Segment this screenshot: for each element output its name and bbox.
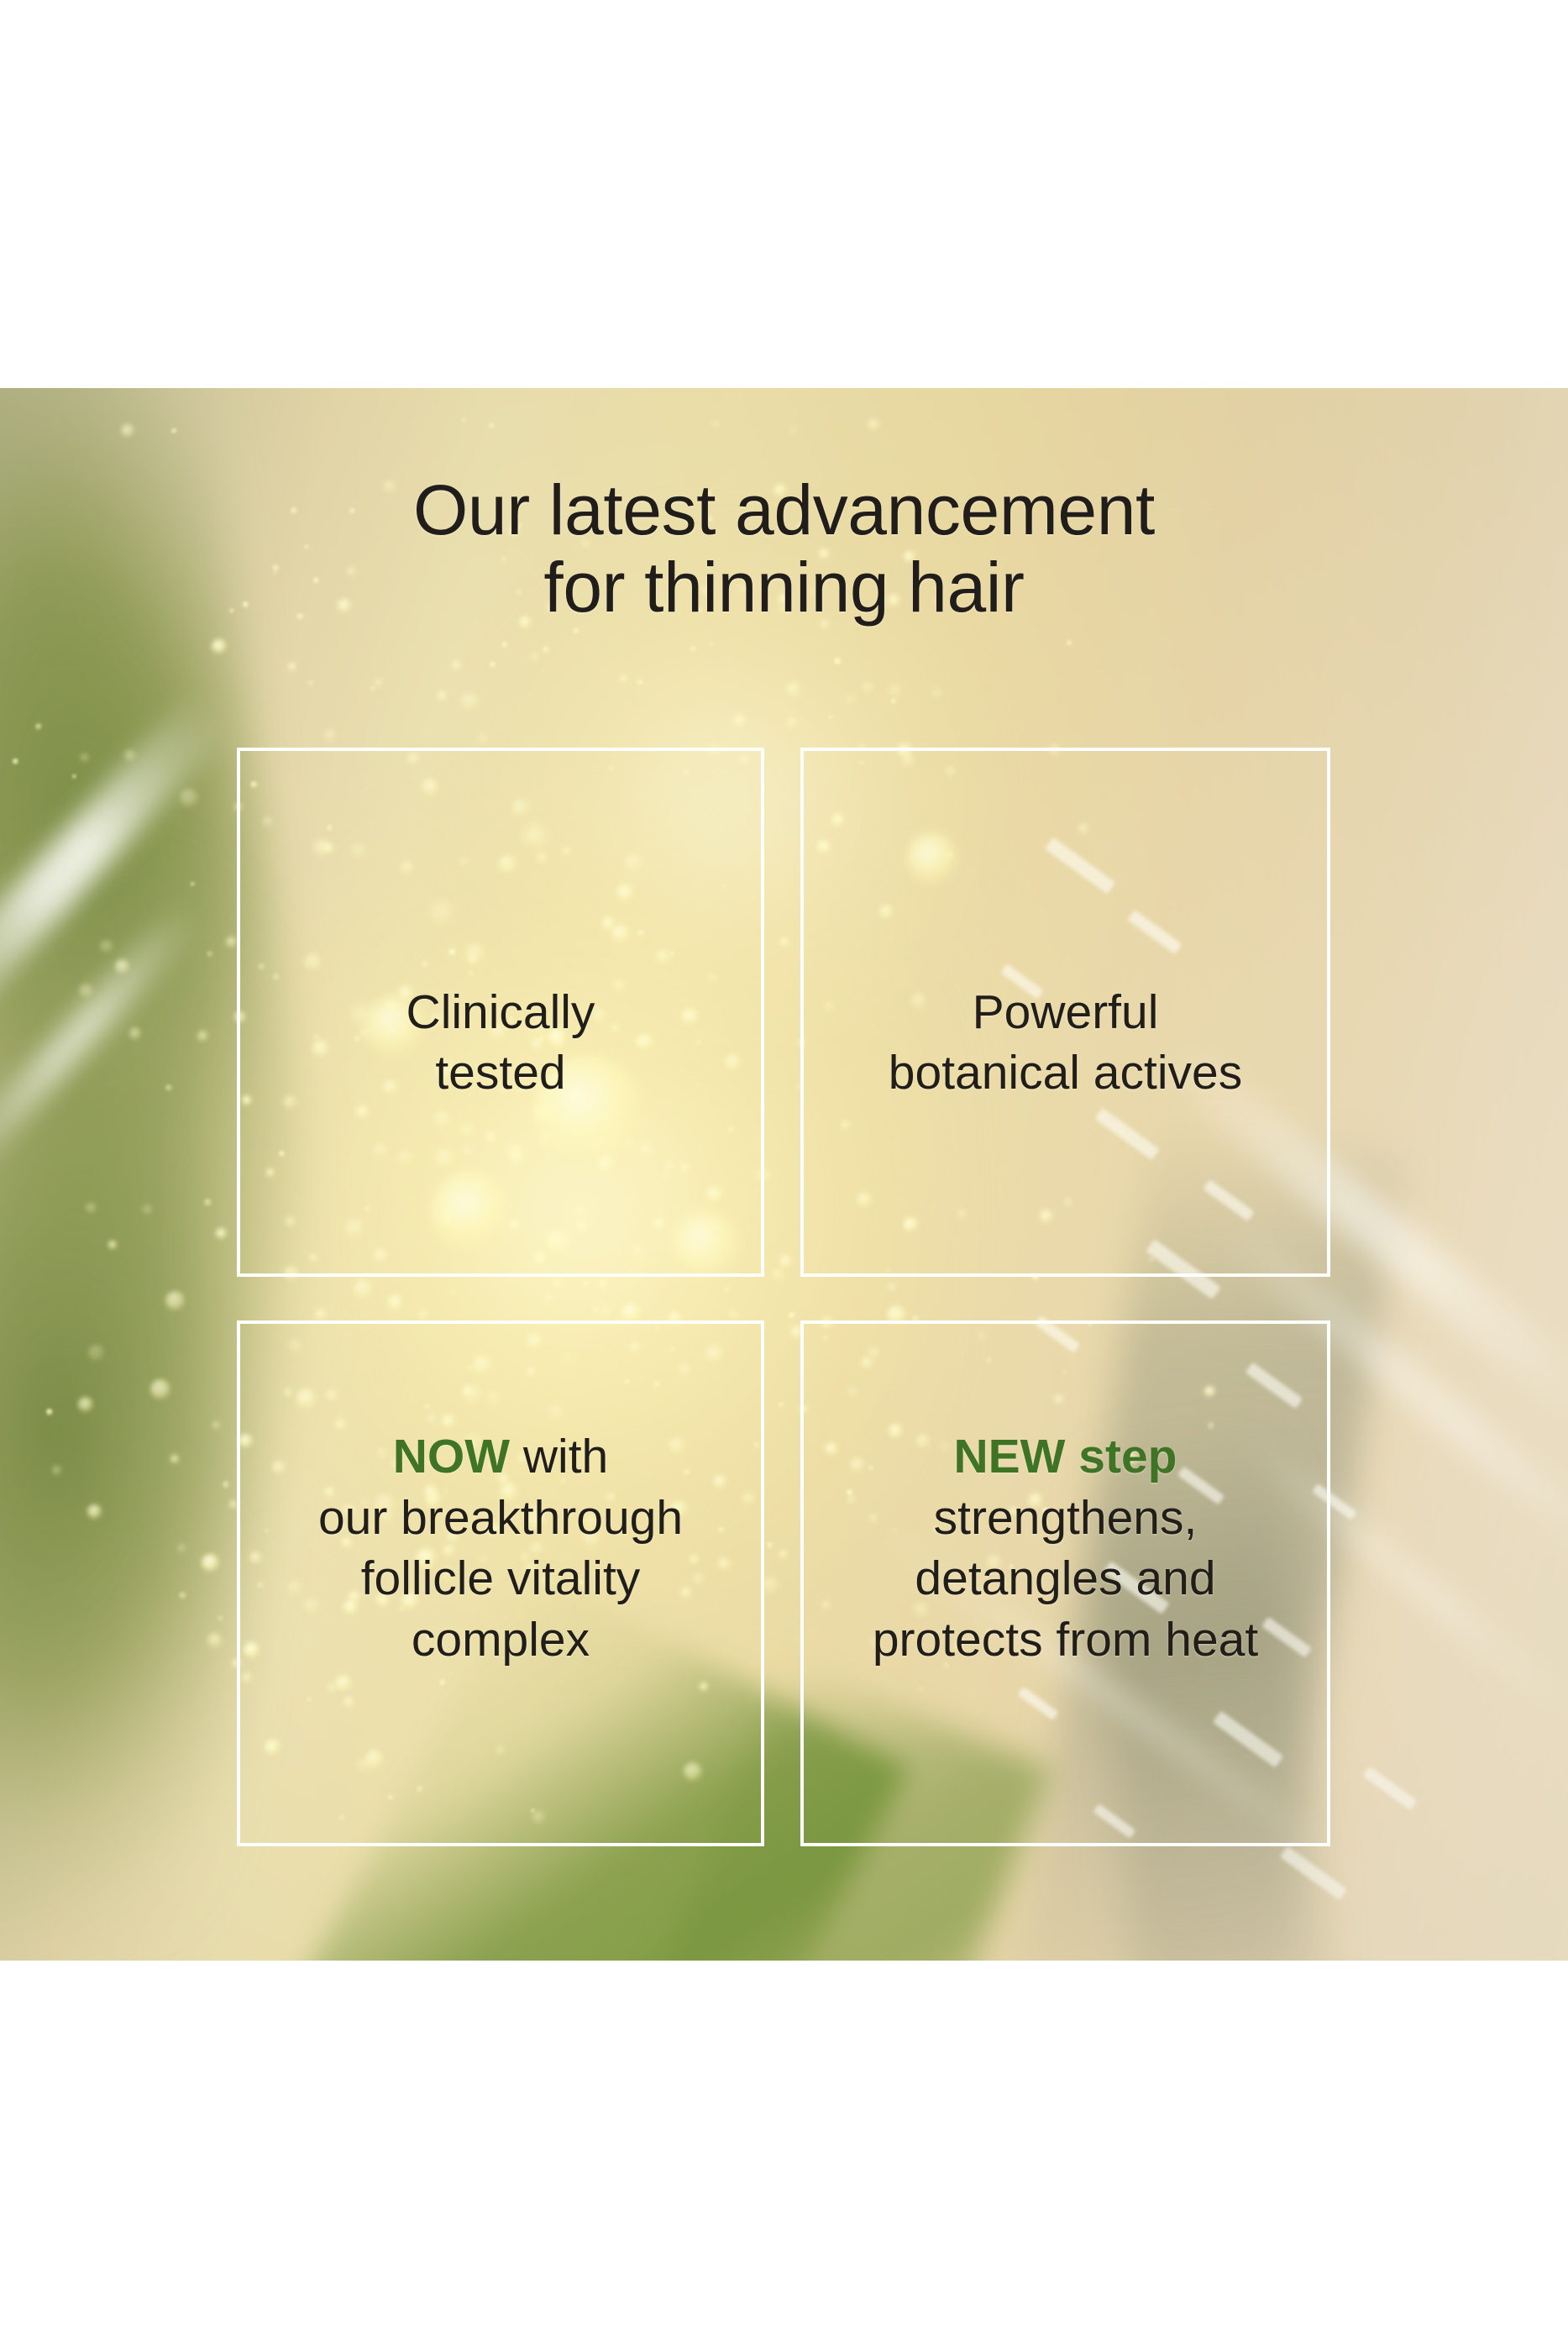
benefit-body-label: Powerful botanical actives	[889, 985, 1242, 1100]
benefit-card-text: NEW step strengthens, detangles and prot…	[861, 1366, 1270, 1670]
benefit-body-label: Clinically tested	[406, 985, 595, 1100]
product-benefit-banner: Our latest advancement for thinning hair…	[0, 388, 1568, 1961]
benefit-card-clinically-tested: Clinically tested	[237, 748, 764, 1277]
benefit-body-label: strengthens, detangles and protects from…	[873, 1491, 1258, 1667]
benefit-accent-label: NOW	[393, 1430, 510, 1483]
benefit-card-follicle-vitality-complex: NOW with our breakthrough follicle vital…	[237, 1320, 764, 1846]
benefit-card-text: Powerful botanical actives	[877, 921, 1254, 1103]
benefit-card-new-step: NEW step strengthens, detangles and prot…	[800, 1320, 1330, 1846]
benefit-grid: Clinically tested Powerful botanical act…	[237, 748, 1330, 1846]
screenshot-canvas: Our latest advancement for thinning hair…	[0, 0, 1568, 2352]
page-title: Our latest advancement for thinning hair	[0, 472, 1568, 626]
benefit-card-text: NOW with our breakthrough follicle vital…	[307, 1366, 695, 1670]
benefit-card-powerful-botanical-actives: Powerful botanical actives	[800, 748, 1330, 1277]
benefit-accent-label: NEW step	[953, 1430, 1177, 1483]
benefit-card-text: Clinically tested	[395, 921, 607, 1103]
